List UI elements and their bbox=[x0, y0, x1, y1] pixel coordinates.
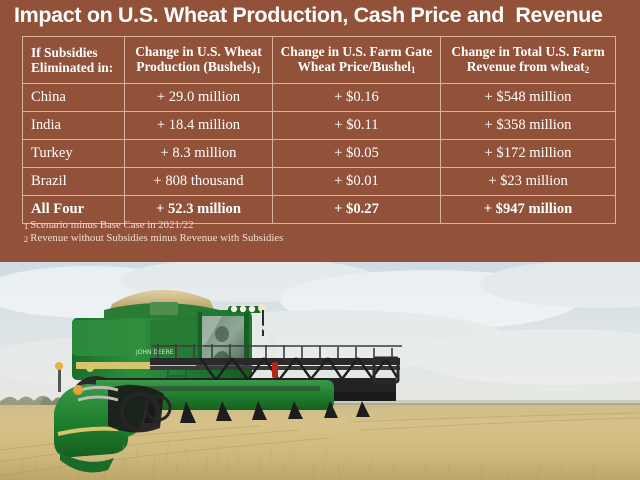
cell-revenue: + $172 million bbox=[441, 140, 616, 168]
footnote-marker: 1 bbox=[24, 221, 30, 231]
cell-price: + $0.05 bbox=[273, 140, 441, 168]
footnote-marker: 1 bbox=[411, 65, 416, 75]
cell-country: India bbox=[23, 112, 125, 140]
cell-price: + $0.16 bbox=[273, 84, 441, 112]
model-badge: JOHN DEERE bbox=[135, 349, 174, 356]
amber-lamp bbox=[73, 385, 83, 395]
header-line-1: Change in Total U.S. Farm bbox=[451, 44, 604, 59]
column-header-price: Change in U.S. Farm Gate Wheat Price/Bus… bbox=[273, 37, 441, 84]
column-header-production: Change in U.S. Wheat Production (Bushels… bbox=[125, 37, 273, 84]
header-line-1: Change in U.S. Wheat bbox=[135, 44, 262, 59]
footnote-text: Revenue without Subsidies minus Revenue … bbox=[30, 232, 283, 244]
impact-data-table: If Subsidies Eliminated in: Change in U.… bbox=[22, 36, 616, 224]
cell-country: Brazil bbox=[23, 168, 125, 196]
cell-price: + $0.01 bbox=[273, 168, 441, 196]
cell-production: + 808 thousand bbox=[125, 168, 273, 196]
page-title: Impact on U.S. Wheat Production, Cash Pr… bbox=[14, 3, 603, 28]
cell-production: + 29.0 million bbox=[125, 84, 273, 112]
header-line-1: If Subsidies bbox=[31, 45, 98, 60]
header-line-1: Change in U.S. Farm Gate bbox=[281, 44, 433, 59]
column-header-subsidies: If Subsidies Eliminated in: bbox=[23, 37, 125, 84]
cell-production: + 8.3 million bbox=[125, 140, 273, 168]
cell-country: Turkey bbox=[23, 140, 125, 168]
column-header-revenue: Change in Total U.S. Farm Revenue from w… bbox=[441, 37, 616, 84]
footnote-2: 2Revenue without Subsidies minus Revenue… bbox=[24, 232, 544, 245]
infographic-page: Impact on U.S. Wheat Production, Cash Pr… bbox=[0, 0, 640, 480]
footnote-marker: 1 bbox=[256, 65, 261, 75]
table-body: China + 29.0 million + $0.16 + $548 mill… bbox=[23, 84, 616, 224]
fire-extinguisher bbox=[272, 362, 278, 378]
harvester-photo: JOHN DEERE bbox=[0, 262, 640, 480]
cell-production: + 18.4 million bbox=[125, 112, 273, 140]
footnote-1: 1Scenario minus Base Case in 2021/22 bbox=[24, 219, 544, 232]
table-row: India + 18.4 million + $0.11 + $358 mill… bbox=[23, 112, 616, 140]
table-row: China + 29.0 million + $0.16 + $548 mill… bbox=[23, 84, 616, 112]
table-row: Turkey + 8.3 million + $0.05 + $172 mill… bbox=[23, 140, 616, 168]
footnote-text: Scenario minus Base Case in 2021/22 bbox=[30, 219, 193, 231]
header-line-2: Wheat Price/Bushel bbox=[298, 59, 411, 74]
marker-post bbox=[58, 368, 61, 392]
driver-silhouette bbox=[215, 326, 229, 342]
footnote-marker: 2 bbox=[24, 234, 30, 244]
cell-revenue: + $358 million bbox=[441, 112, 616, 140]
harvester-illustration: JOHN DEERE bbox=[0, 262, 640, 480]
header-line-2: Production (Bushels) bbox=[136, 59, 256, 74]
cell-revenue: + $23 million bbox=[441, 168, 616, 196]
tank-hatch bbox=[150, 302, 178, 315]
cell-country: China bbox=[23, 84, 125, 112]
footnote-marker: 2 bbox=[585, 65, 590, 75]
cell-revenue: + $548 million bbox=[441, 84, 616, 112]
title-bar: Impact on U.S. Wheat Production, Cash Pr… bbox=[0, 0, 640, 33]
antenna bbox=[262, 310, 264, 336]
body-emblem bbox=[86, 364, 94, 372]
marker-lamp bbox=[55, 362, 63, 370]
footnotes-block: 1Scenario minus Base Case in 2021/22 2Re… bbox=[24, 219, 544, 245]
header-line-2: Revenue from wheat bbox=[467, 59, 585, 74]
table-row: Brazil + 808 thousand + $0.01 + $23 mill… bbox=[23, 168, 616, 196]
table-header: If Subsidies Eliminated in: Change in U.… bbox=[23, 37, 616, 84]
cell-price: + $0.11 bbox=[273, 112, 441, 140]
body-panel-left bbox=[72, 320, 146, 356]
table-header-row: If Subsidies Eliminated in: Change in U.… bbox=[23, 37, 616, 84]
header-line-2: Eliminated in: bbox=[31, 60, 113, 75]
